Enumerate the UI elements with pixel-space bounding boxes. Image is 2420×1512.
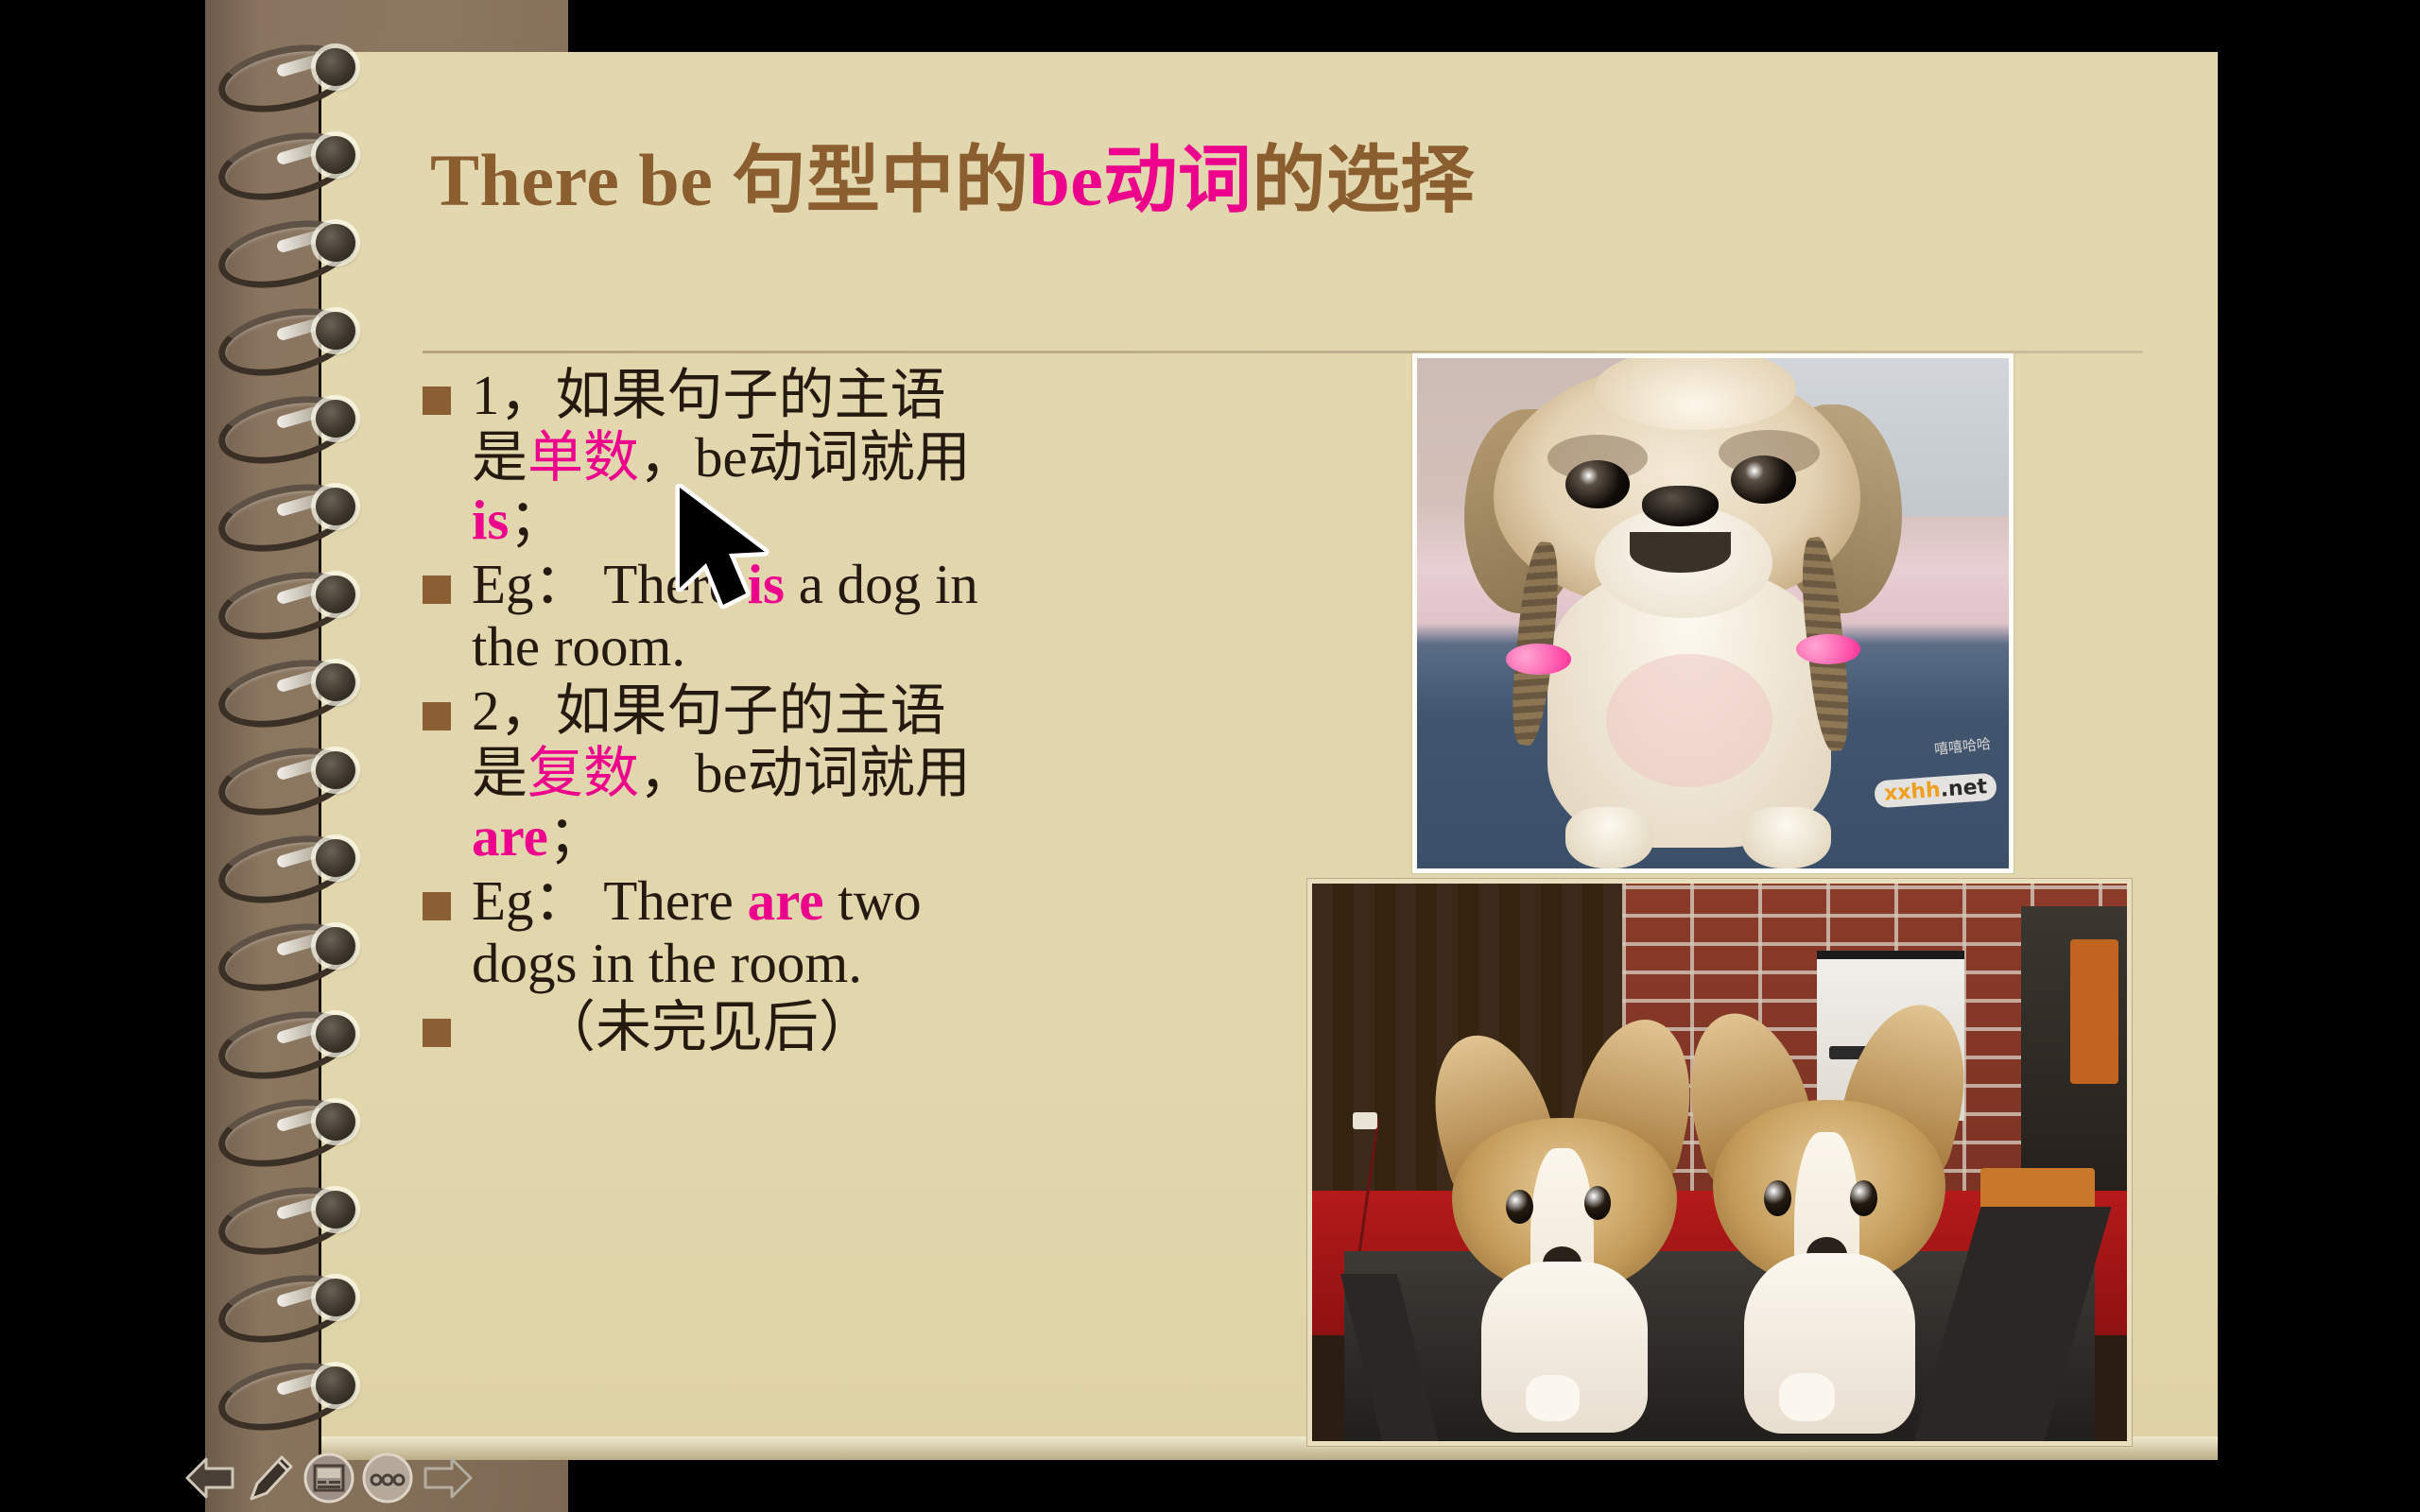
slide-view[interactable] (302, 1452, 355, 1504)
highlight-are: are (472, 805, 548, 868)
list-item-text: 2，如果句子的主语 是复数，be动词就用 are； (472, 679, 971, 867)
highlight-are: are (748, 869, 824, 932)
bullet-square-icon (423, 387, 451, 415)
highlight-singular: 单数 (527, 426, 639, 489)
dog-paw-right (1742, 807, 1831, 868)
dog-belly (1606, 654, 1772, 786)
list-item: Eg： There is a dog in the room. (423, 553, 1273, 678)
slideshow-toolbar[interactable] (185, 1452, 473, 1504)
spiral-coil (217, 307, 359, 366)
presentation-stage: There be 句型中的be动词的选择 1，如果句子的主语 是单数，be动词就… (0, 0, 2420, 1512)
corgi-left (1443, 1034, 1687, 1413)
punch-hole (316, 927, 355, 965)
punch-hole (316, 48, 355, 86)
punch-hole (316, 1366, 355, 1404)
punch-hole (316, 1191, 355, 1228)
title-part-1: There be (430, 139, 732, 221)
line-text: 是 (472, 742, 527, 804)
punch-hole (316, 312, 355, 350)
bullet-square-icon (423, 1019, 451, 1047)
list-item-text: （未完见后） (472, 996, 874, 1058)
line-text: ； (548, 805, 604, 868)
line-text: ，be动词就用 (639, 742, 971, 804)
spiral-coil (217, 1010, 359, 1069)
list-item: 1，如果句子的主语 是单数，be动词就用 is； (423, 364, 1273, 551)
spiral-coil (217, 43, 359, 102)
spiral-coil (217, 1274, 359, 1332)
bullet-list: 1，如果句子的主语 是单数，be动词就用 is； Eg： There is a … (423, 364, 1273, 1060)
corgi-right (1703, 1012, 1956, 1414)
pink-bow-right (1796, 634, 1861, 664)
punch-hole (316, 400, 355, 438)
watermark-site-name: xxhh (1884, 778, 1942, 805)
spiral-coil (217, 483, 359, 541)
spiral-coil (217, 395, 359, 454)
punch-hole (316, 663, 355, 701)
more-options[interactable] (361, 1452, 414, 1504)
spiral-coil (217, 571, 359, 629)
spiral-coil (217, 659, 359, 717)
spiral-coil (217, 219, 359, 278)
line-text: 1，如果句子的主语 (472, 364, 946, 426)
spiral-coil (217, 834, 359, 893)
highlight-plural: 复数 (527, 742, 639, 804)
punch-hole (316, 488, 355, 525)
highlight-is: is (472, 489, 509, 551)
dog-nose (1642, 486, 1719, 526)
previous-slide-arrow[interactable] (185, 1452, 238, 1504)
spiral-coil (217, 1186, 359, 1245)
dog-eye-right (1731, 455, 1796, 504)
dog-mouth (1630, 532, 1730, 573)
line-text: 是 (472, 426, 527, 489)
corgi-paw (1779, 1373, 1835, 1421)
line-text: a dog in (785, 553, 978, 615)
line-text: Eg： (472, 869, 590, 932)
line-text: There (603, 869, 747, 932)
punch-hole (316, 1103, 355, 1141)
corgi-eye-right (1584, 1186, 1611, 1220)
punch-hole (316, 751, 355, 789)
line-text: the room. (472, 615, 685, 678)
line-text: 2，如果句子的主语 (472, 679, 946, 742)
list-item: 2，如果句子的主语 是复数，be动词就用 are； (423, 679, 1273, 867)
punch-hole (316, 136, 355, 174)
shih-tzu-single-dog-photo: 嘻嘻哈哈 xxhh.net (1412, 353, 2014, 873)
line-text: two (823, 869, 921, 932)
dog-paw-left (1565, 807, 1654, 868)
bullet-square-icon (423, 576, 451, 604)
spiral-coil (217, 131, 359, 190)
orange-object (2070, 939, 2119, 1084)
spiral-coil (217, 922, 359, 981)
pink-bow-left (1506, 644, 1571, 674)
spiral-coil (217, 1362, 359, 1420)
two-corgis-photo (1307, 879, 2132, 1446)
wall-outlet (1353, 1112, 1377, 1129)
corgi-paw (1526, 1375, 1580, 1420)
mouse-cursor (674, 484, 778, 616)
list-item: （未完见后） (423, 996, 1273, 1058)
punch-hole (316, 1279, 355, 1316)
line-text: ，be动词就用 (639, 426, 971, 489)
title-highlight-be-verb: be动词 (1028, 139, 1252, 221)
bullet-square-icon (423, 702, 451, 730)
page-title: There be 句型中的be动词的选择 (430, 142, 2132, 219)
line-text: Eg： (472, 553, 590, 615)
line-text: ； (509, 489, 564, 551)
punch-hole (316, 839, 355, 877)
watermark-site-tld: .net (1940, 775, 1988, 801)
list-item: Eg： There are two dogs in the room. (423, 869, 1273, 994)
next-slide-arrow[interactable] (420, 1452, 473, 1504)
punch-hole (316, 224, 355, 262)
punch-hole (316, 576, 355, 613)
line-text: dogs in the room. (472, 932, 862, 994)
spiral-coil (217, 747, 359, 805)
title-part-4: 的选择 (1252, 139, 1475, 221)
list-item-text: Eg： There are two dogs in the room. (472, 869, 922, 994)
corgi-eye-left (1506, 1190, 1532, 1224)
spiral-binding (217, 0, 406, 1512)
pen-tool[interactable] (244, 1452, 297, 1504)
bullet-square-icon (423, 892, 451, 920)
dog-eye-left (1565, 460, 1631, 508)
line-text: （未完见后） (540, 996, 874, 1058)
spiral-coil (217, 1098, 359, 1157)
title-part-2: 句型中的 (732, 139, 1028, 221)
punch-hole (316, 1015, 355, 1053)
